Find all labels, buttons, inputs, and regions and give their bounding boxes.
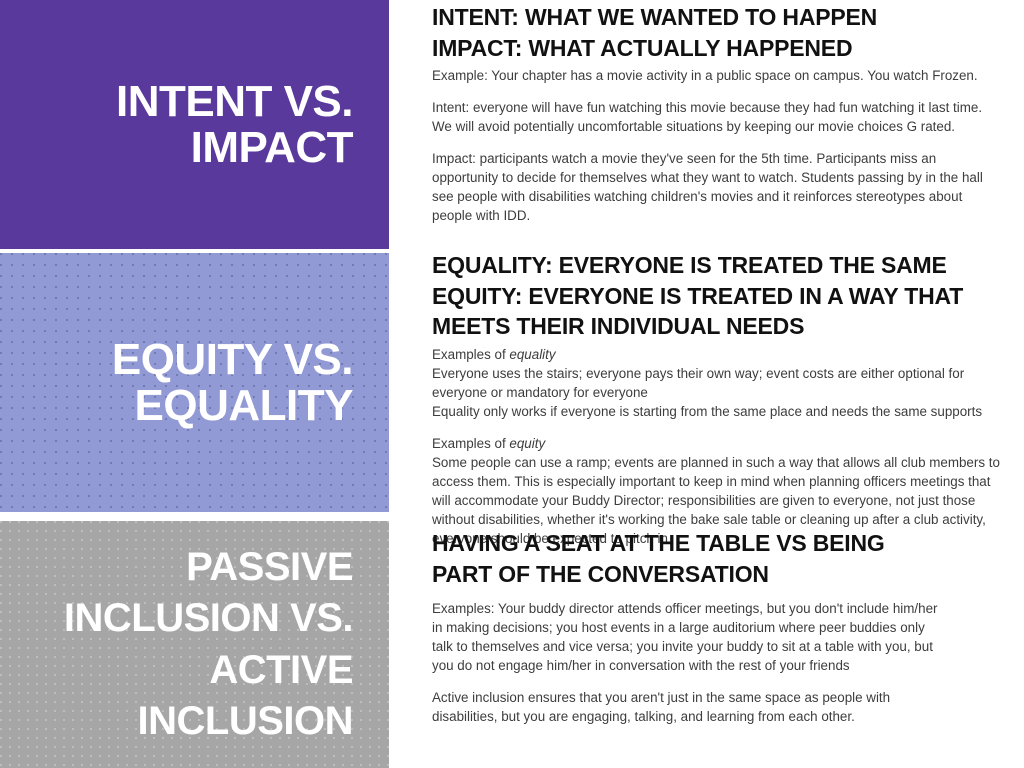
paragraph-intent-detail: Intent: everyone will have fun watching … [432, 98, 1002, 136]
spacer [432, 85, 1012, 98]
spacer [432, 421, 1012, 434]
slide-root: INTENT VS. IMPACT EQUITY VS. EQUALITY PA… [0, 0, 1024, 768]
heading-intent-definition: INTENT: WHAT WE WANTED TO HAPPEN [432, 2, 1012, 33]
spacer [432, 136, 1012, 149]
section-intent-vs-impact: INTENT: WHAT WE WANTED TO HAPPEN IMPACT:… [432, 2, 1012, 225]
heading-group-equity: EQUALITY: EVERYONE IS TREATED THE SAME E… [432, 250, 1012, 342]
heading-seat-vs-conversation: HAVING A SEAT AT THE TABLE VS BEING PART… [432, 528, 944, 589]
panel-passive-vs-active-inclusion: PASSIVE INCLUSION VS. ACTIVE INCLUSION [0, 521, 389, 768]
panel-title-passive-vs-active-inclusion: PASSIVE INCLUSION VS. ACTIVE INCLUSION [20, 542, 353, 747]
heading-equity-definition: EQUITY: EVERYONE IS TREATED IN A WAY THA… [432, 281, 1012, 342]
section-equity-vs-equality: EQUALITY: EVERYONE IS TREATED THE SAME E… [432, 250, 1012, 548]
panel-intent-vs-impact: INTENT VS. IMPACT [0, 0, 389, 249]
heading-equality-definition: EQUALITY: EVERYONE IS TREATED THE SAME [432, 250, 1012, 281]
spacer [432, 592, 944, 599]
heading-group-intent: INTENT: WHAT WE WANTED TO HAPPEN IMPACT:… [432, 2, 1012, 63]
label-examples-of-equality-word: equality [509, 347, 555, 362]
label-examples-of-equity-word: equity [509, 436, 545, 451]
paragraph-equality-note: Equality only works if everyone is start… [432, 402, 1005, 421]
heading-group-inclusion: HAVING A SEAT AT THE TABLE VS BEING PART… [432, 528, 944, 589]
heading-impact-definition: IMPACT: WHAT ACTUALLY HAPPENED [432, 33, 1012, 64]
paragraph-inclusion-examples: Examples: Your buddy director attends of… [432, 599, 940, 675]
panel-equity-vs-equality: EQUITY VS. EQUALITY [0, 253, 389, 512]
label-examples-of-equality-prefix: Examples of [432, 347, 509, 362]
content-column: INTENT: WHAT WE WANTED TO HAPPEN IMPACT:… [432, 0, 1024, 768]
label-examples-of-equity: Examples of equity [432, 434, 1005, 453]
section-seat-at-the-table: HAVING A SEAT AT THE TABLE VS BEING PART… [432, 528, 944, 726]
panel-title-equity-vs-equality: EQUITY VS. EQUALITY [20, 337, 353, 429]
label-examples-of-equity-prefix: Examples of [432, 436, 509, 451]
spacer [432, 675, 944, 688]
panel-title-intent-vs-impact: INTENT VS. IMPACT [20, 79, 353, 171]
label-examples-of-equality: Examples of equality [432, 345, 1005, 364]
paragraph-active-inclusion: Active inclusion ensures that you aren't… [432, 688, 940, 726]
paragraph-intent-example: Example: Your chapter has a movie activi… [432, 66, 1002, 85]
paragraph-impact-detail: Impact: participants watch a movie they'… [432, 149, 1002, 225]
paragraph-equality-examples: Everyone uses the stairs; everyone pays … [432, 364, 1005, 402]
